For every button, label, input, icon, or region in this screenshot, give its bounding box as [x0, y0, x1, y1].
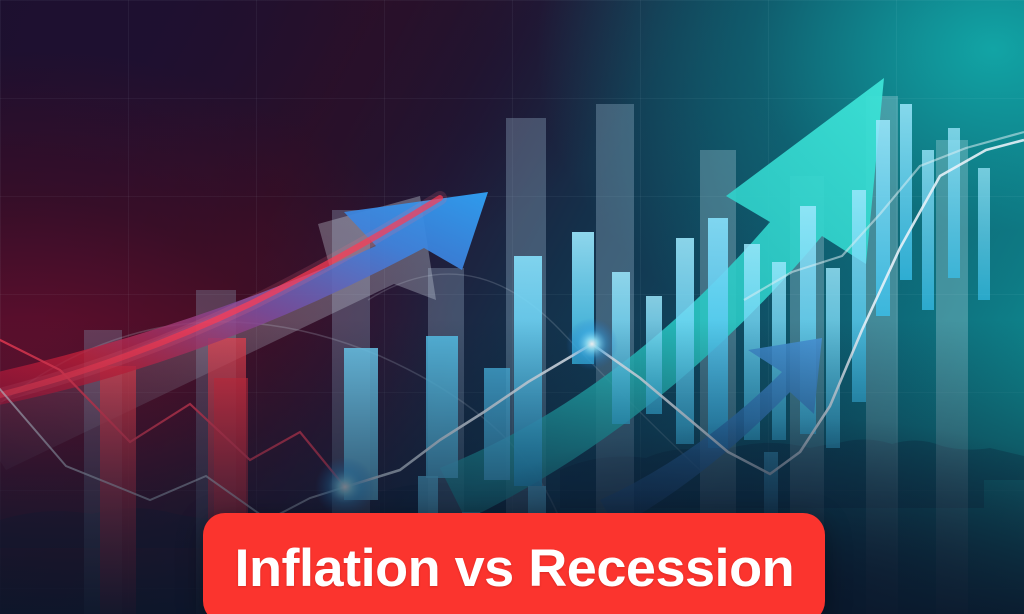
poster-canvas: Inflation vs Recession — [0, 0, 1024, 614]
page-title: Inflation vs Recession — [234, 542, 794, 595]
title-banner: Inflation vs Recession — [203, 513, 825, 614]
